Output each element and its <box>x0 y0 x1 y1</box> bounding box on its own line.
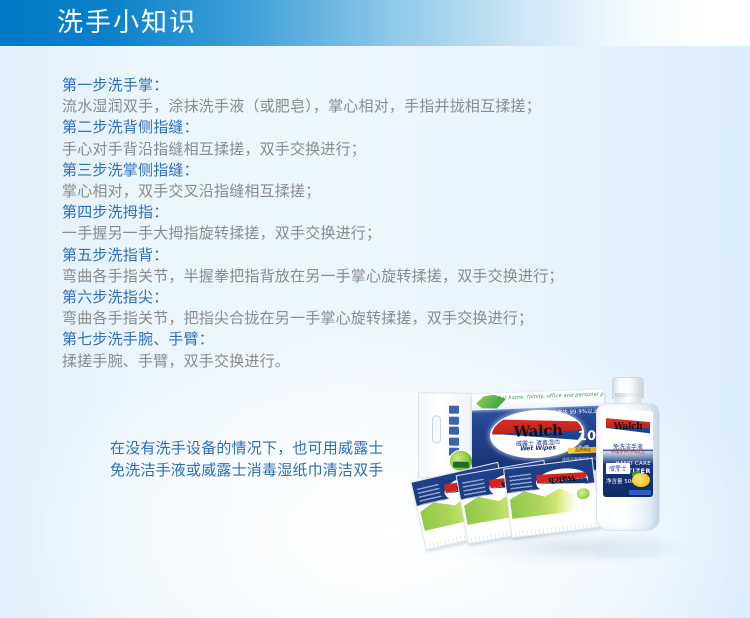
step-body: 弯曲各手指关节，把指尖合拢在另一手掌心旋转揉搓，双手交换进行； <box>62 308 702 329</box>
step-body: 弯曲各手指关节，半握拳把指背放在另一手掌心旋转揉搓，双手交换进行； <box>62 266 702 287</box>
step-heading: 第六步洗指尖： <box>62 287 702 308</box>
step-heading: 第四步洗拇指： <box>62 202 702 223</box>
step-body: 掌心相对，双手交叉沿指缝相互揉搓； <box>62 181 702 202</box>
page-title: 洗手小知识 <box>57 6 197 40</box>
step-heading: 第一步洗手掌： <box>62 75 702 96</box>
quality-badge-label: 品质保证 <box>568 447 598 454</box>
step-heading: 第五步洗指背： <box>62 245 702 266</box>
product-photo: For home, family, office and personal pr… <box>415 375 750 580</box>
step-body: 流水湿润双手，涂抹洗手液（或肥皂），掌心相对，手指并拢相互揉搓； <box>62 96 702 117</box>
bottom-caption: 在没有洗手设备的情况下，也可用威露士 免洗洁手液或威露士消毒湿纸巾清洁双手 <box>110 438 384 481</box>
bottle-label-footer <box>629 490 651 495</box>
step-body: 手心对手背沿指缝相互揉搓，双手交换进行； <box>62 139 702 160</box>
box-handle-icon <box>432 415 441 443</box>
step-heading: 第七步洗手腕、手臂： <box>62 329 702 350</box>
handwash-steps-list: 第一步洗手掌： 流水湿润双手，涂抹洗手液（或肥皂），掌心相对，手指并拢相互揉搓；… <box>62 75 702 372</box>
page-root: 洗手小知识 第一步洗手掌： 流水湿润双手，涂抹洗手液（或肥皂），掌心相对，手指并… <box>0 0 750 618</box>
sachet-text-lines <box>462 479 487 500</box>
step-body: 一手握另一手大拇指旋转揉搓，双手交换进行； <box>62 223 702 244</box>
bottle-wordmark: Walch <box>606 422 650 432</box>
sachet-text-lines <box>509 473 533 493</box>
lemon-icon <box>632 473 650 487</box>
step-body: 揉搓手腕、手臂，双手交换进行。 <box>62 351 702 372</box>
box-claim-cn: 杀菌率达 99.9%以上 <box>546 408 598 418</box>
box-side-panel <box>418 392 473 479</box>
feature-icon-3 <box>449 427 459 435</box>
feature-icon-4 <box>449 437 459 445</box>
feature-icon-2 <box>449 416 459 424</box>
caption-line-2: 免洗洁手液或威露士消毒湿纸巾清洁双手 <box>110 460 384 482</box>
feature-icon-1 <box>449 406 459 414</box>
sanitizer-bottle: Walch 免洗洁手液 杀菌率99.9%以上 威露士 HAND CARE SAN… <box>596 377 660 537</box>
bottle-cap <box>612 377 644 399</box>
step-heading: 第三步洗掌侧指缝： <box>62 160 702 181</box>
caption-line-1: 在没有洗手设备的情况下，也可用威露士 <box>110 438 384 460</box>
bottle-claim-cn: 杀菌率99.9%以上 <box>603 449 653 455</box>
bottle-label: Walch 免洗洁手液 杀菌率99.9%以上 威露士 HAND CARE SAN… <box>603 411 653 497</box>
wipe-sachet: Walch <box>503 458 601 538</box>
sachet-text-lines <box>417 484 442 506</box>
step-heading: 第二步洗背侧指缝： <box>62 117 702 138</box>
bottle-reflection <box>596 531 660 557</box>
